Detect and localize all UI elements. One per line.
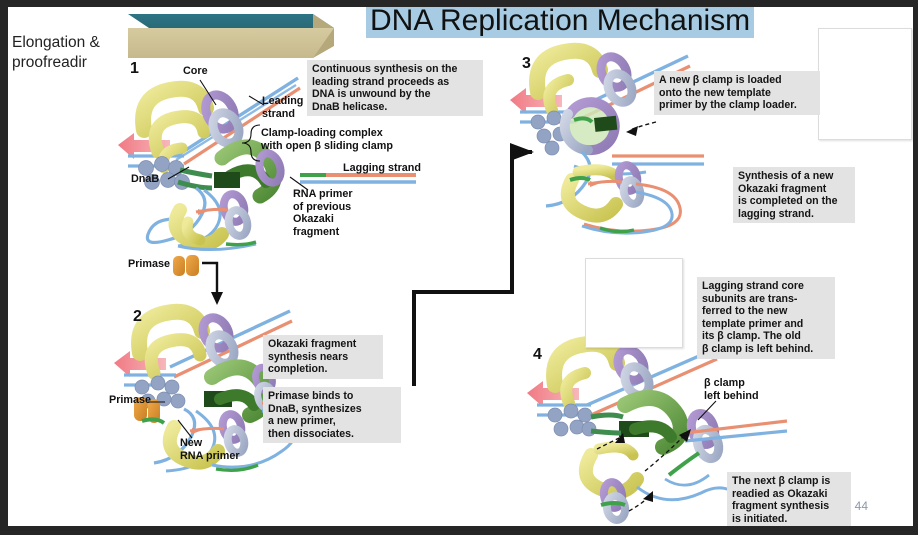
- panel4-callout-b: The next β clamp is readied as Okazaki f…: [727, 472, 851, 528]
- arrow-step1-to-step2: [200, 255, 234, 307]
- panel1-callout: Continuous synthesis on the leading stra…: [307, 60, 483, 116]
- panel2-callout-b: Primase binds to DnaB, synthesizes a new…: [263, 387, 401, 443]
- panel3-white-card: [818, 28, 912, 140]
- label-lagging-strand: Lagging strand: [343, 162, 421, 175]
- label-clamp-loading-complex: Clamp-loading complex with open β slidin…: [261, 127, 393, 152]
- frame-border-bottom: [0, 526, 918, 535]
- label-dnab-leader: [167, 165, 191, 183]
- label-primase-top: Primase: [128, 258, 170, 271]
- label-clamp-bracket: [244, 122, 262, 164]
- frame-border-left: [0, 0, 8, 535]
- frame-border-right: [913, 0, 918, 535]
- step-number-3: 3: [522, 55, 531, 73]
- label-core-leader: [196, 79, 226, 109]
- panel4-callout-a: Lagging strand core subunits are trans- …: [697, 277, 835, 359]
- label-primase-left: Primase: [109, 394, 151, 407]
- primase-molecule-icon: [171, 252, 203, 280]
- panel2-callout-a: Okazaki fragment synthesis nears complet…: [263, 335, 383, 379]
- label-leading-strand: Leading strand: [262, 95, 303, 120]
- label-new-rna-primer: New RNA primer: [180, 437, 240, 462]
- label-dnab: DnaB: [131, 173, 159, 186]
- page-title: DNA Replication Mechanism: [366, 4, 754, 38]
- header-banner-shape: [128, 12, 338, 60]
- panel3to4-white-card: [585, 258, 683, 348]
- slide-subtitle: Elongation & proofreadir: [12, 33, 142, 73]
- step-number-4: 4: [533, 346, 542, 364]
- label-rna-primer: RNA primer of previous Okazaki fragment: [293, 188, 353, 238]
- label-core: Core: [183, 65, 208, 78]
- slide-canvas: DNA Replication Mechanism Elongation & p…: [0, 0, 918, 535]
- step-number-2: 2: [133, 308, 142, 326]
- panel3-callout-b: Synthesis of a new Okazaki fragment is c…: [733, 167, 855, 223]
- label-beta-clamp-left-behind: β clamp left behind: [704, 377, 759, 402]
- step-number-1: 1: [130, 60, 139, 78]
- frame-border-top: [0, 0, 918, 7]
- label-beta-clamp-leader: [696, 400, 718, 422]
- page-number: 44: [855, 499, 868, 513]
- panel3-callout-a: A new β clamp is loaded onto the new tem…: [654, 71, 820, 115]
